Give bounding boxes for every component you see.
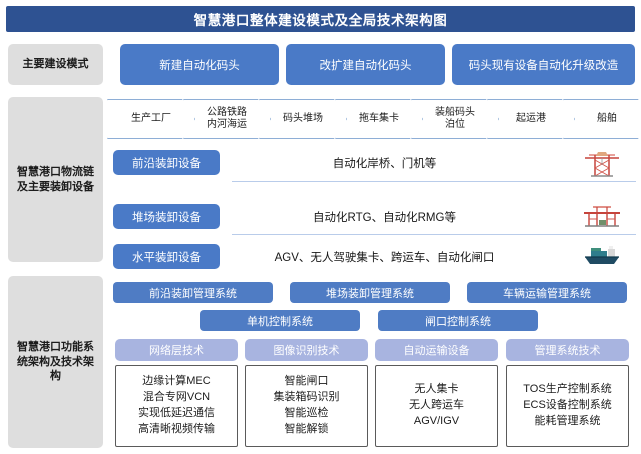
tech-detail-line: 无人集卡 — [415, 382, 459, 398]
logistics-desc-0: 自动化岸桥、门机等 — [232, 150, 537, 175]
flow-step-5[interactable]: 起运港 — [487, 99, 575, 139]
tech-column-title-3[interactable]: 管理系统技术 — [506, 339, 629, 361]
tech-column-title-2[interactable]: 自动运输设备 — [375, 339, 498, 361]
flow-step-label: 码头堆场 — [283, 113, 323, 126]
tech-detail-line: 集装箱码识别 — [274, 390, 340, 406]
tech-detail-line: 高清晰视频传输 — [138, 422, 215, 438]
tech-detail-box-2: 无人集卡 无人跨运车 AGV/IGV — [375, 365, 498, 447]
gantry-crane-icon — [581, 201, 623, 231]
tech-detail-box-1: 智能闸口 集装箱码识别 智能巡检 智能解锁 — [245, 365, 368, 447]
logistics-tag-2[interactable]: 水平装卸设备 — [113, 244, 220, 269]
mgmt-system-0[interactable]: 前沿装卸管理系统 — [113, 282, 273, 303]
flow-step-label: 装船码头 — [435, 107, 475, 120]
flow-step-2[interactable]: 码头堆场 — [259, 99, 347, 139]
flow-step-label-2: 泊位 — [435, 119, 475, 132]
tech-detail-line: 边缘计算MEC — [142, 374, 210, 390]
control-system-0[interactable]: 单机控制系统 — [200, 310, 360, 331]
logistics-tag-0[interactable]: 前沿装卸设备 — [113, 150, 220, 175]
tech-column-title-0[interactable]: 网络层技术 — [115, 339, 238, 361]
control-system-1[interactable]: 闸口控制系统 — [378, 310, 538, 331]
tech-detail-line: ECS设备控制系统 — [523, 398, 612, 414]
tech-detail-box-0: 边缘计算MEC 混合专网VCN 实现低延迟通信 高清晰视频传输 — [115, 365, 238, 447]
flow-step-label: 公路铁路 — [207, 107, 247, 120]
page-title-bar: 智慧港口整体建设模式及全局技术架构图 — [6, 6, 635, 32]
build-mode-item-0[interactable]: 新建自动化码头 — [120, 44, 279, 85]
logistics-rule-0 — [232, 181, 636, 182]
flow-step-label-2: 内河海运 — [207, 119, 247, 132]
section-label-logistics: 智慧港口物流链及主要装卸设备 — [8, 97, 103, 262]
tech-detail-line: 混合专网VCN — [143, 390, 210, 406]
section-label-architecture: 智慧港口功能系统架构及技术架构 — [8, 276, 103, 448]
tech-detail-line: 智能闸口 — [285, 374, 329, 390]
tech-column-title-1[interactable]: 图像识别技术 — [245, 339, 368, 361]
tech-detail-line: AGV/IGV — [414, 414, 459, 430]
tech-detail-box-3: TOS生产控制系统 ECS设备控制系统 能耗管理系统 — [506, 365, 629, 447]
flow-step-label: 船舶 — [597, 113, 617, 126]
logistics-desc-2: AGV、无人驾驶集卡、跨运车、自动化闸口 — [232, 244, 537, 269]
tech-detail-line: 无人跨运车 — [409, 398, 464, 414]
container-ship-icon — [581, 238, 623, 268]
mgmt-system-1[interactable]: 堆场装卸管理系统 — [290, 282, 450, 303]
logistics-flow-chain: 生产工厂 公路铁路内河海运 码头堆场 拖车集卡 装船码头泊位 起运港 船舶 — [107, 99, 635, 139]
flow-step-label: 拖车集卡 — [359, 113, 399, 126]
tech-detail-line: TOS生产控制系统 — [523, 382, 611, 398]
mgmt-system-2[interactable]: 车辆运输管理系统 — [467, 282, 627, 303]
flow-step-3[interactable]: 拖车集卡 — [335, 99, 423, 139]
flow-step-1[interactable]: 公路铁路内河海运 — [183, 99, 271, 139]
tech-detail-line: 能耗管理系统 — [535, 414, 601, 430]
flow-step-label: 生产工厂 — [131, 113, 171, 126]
flow-step-label: 起运港 — [516, 113, 546, 126]
section-label-build-mode: 主要建设模式 — [8, 44, 103, 85]
logistics-desc-1: 自动化RTG、自动化RMG等 — [232, 204, 537, 229]
flow-step-0[interactable]: 生产工厂 — [107, 99, 195, 139]
build-mode-item-2[interactable]: 码头现有设备自动化升级改造 — [452, 44, 635, 85]
logistics-tag-1[interactable]: 堆场装卸设备 — [113, 204, 220, 229]
flow-step-4[interactable]: 装船码头泊位 — [411, 99, 499, 139]
logistics-rule-1 — [232, 234, 636, 235]
tech-detail-line: 实现低延迟通信 — [138, 406, 215, 422]
tech-detail-line: 智能巡检 — [285, 406, 329, 422]
quay-crane-icon — [581, 150, 623, 180]
build-mode-item-1[interactable]: 改扩建自动化码头 — [286, 44, 445, 85]
page-title: 智慧港口整体建设模式及全局技术架构图 — [194, 9, 448, 29]
tech-detail-line: 智能解锁 — [285, 422, 329, 438]
